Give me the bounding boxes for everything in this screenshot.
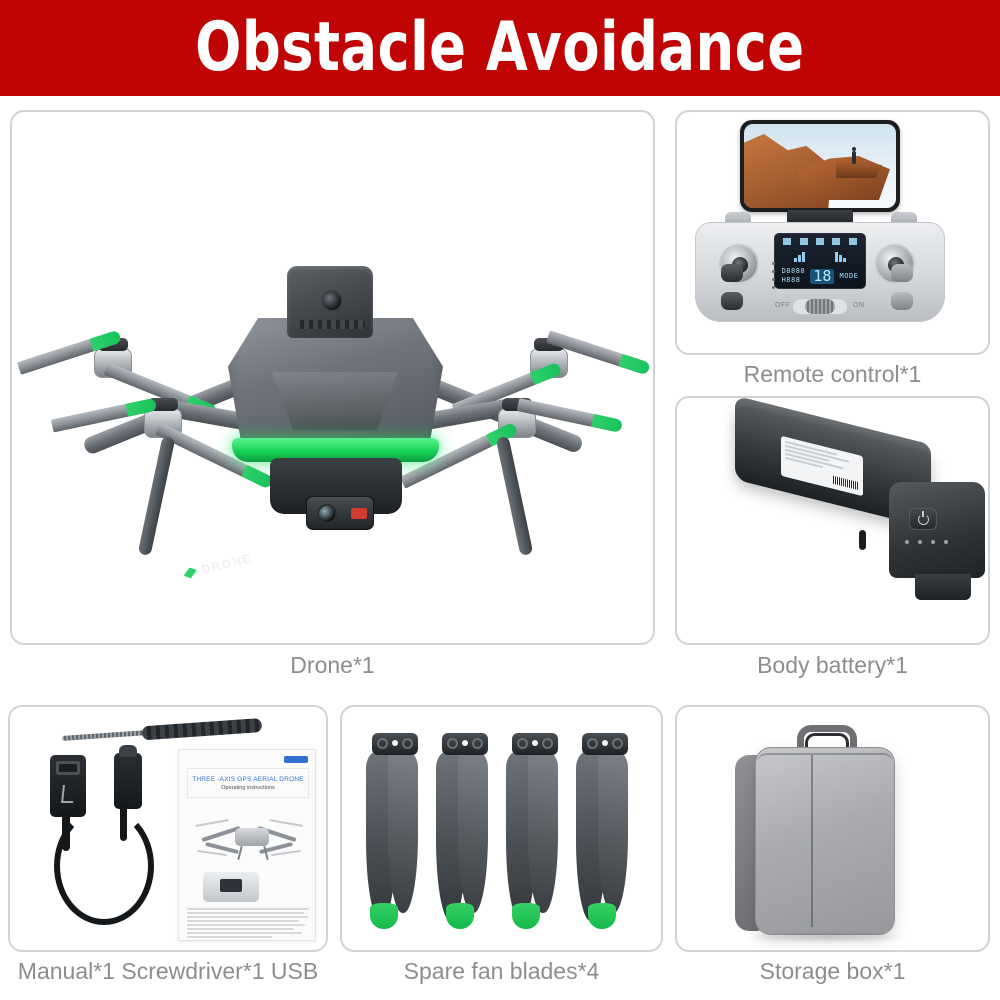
battery-charge-port	[859, 530, 866, 550]
drone-assembly: DRONE	[32, 222, 632, 552]
product-card-drone[interactable]: DRONE	[10, 110, 655, 645]
instruction-manual: THREE -AXIS GPS AERIAL DRONE Operating i…	[178, 749, 316, 941]
caption-storage-box: Storage box*1	[675, 958, 990, 985]
usb-c-connector	[114, 753, 142, 809]
battery-connector-foot	[915, 574, 971, 600]
propeller-vane-b	[528, 751, 558, 913]
accessories-illustration: THREE -AXIS GPS AERIAL DRONE Operating i…	[10, 707, 326, 950]
lcd-mode-value: MODE	[840, 273, 859, 280]
drone-landing-leg-left	[138, 436, 176, 556]
usb-a-connector	[50, 755, 86, 817]
battery-level-leds	[905, 540, 948, 544]
switch-label-on: ON	[853, 302, 865, 309]
usb-a-pins	[56, 761, 80, 775]
storage-box-illustration	[677, 707, 988, 950]
bag-seam	[811, 755, 813, 927]
power-switch-knob[interactable]	[805, 299, 835, 314]
power-switch[interactable]	[792, 298, 848, 315]
drone-illustration: DRONE	[12, 112, 653, 643]
caption-accessories: Manual*1 Screwdriver*1 USB	[8, 958, 328, 985]
banner-title: Obstacle Avoidance	[195, 14, 804, 82]
camera-badge	[351, 508, 367, 519]
propeller-vane-b	[388, 751, 418, 913]
mounted-phone	[740, 120, 900, 212]
manual-remote-screen	[220, 879, 242, 892]
battery-barcode	[833, 476, 859, 490]
remote-button-gps[interactable]	[721, 264, 743, 282]
propeller-blade	[434, 733, 494, 929]
drone-camera	[306, 496, 374, 530]
usb-c-tip	[119, 745, 137, 757]
battery-illustration	[677, 398, 988, 643]
propeller-green-tip	[446, 903, 474, 929]
propeller-hub	[512, 733, 558, 755]
caption-spare-blades: Spare fan blades*4	[340, 958, 663, 985]
manual-body-text	[187, 908, 309, 940]
product-card-accessories[interactable]: THREE -AXIS GPS AERIAL DRONE Operating i…	[8, 705, 328, 952]
power-icon	[918, 514, 929, 525]
drone-logo: DRONE	[181, 541, 279, 586]
product-card-storage-box[interactable]	[675, 705, 990, 952]
propeller-blade	[504, 733, 564, 929]
propeller-green-tip	[512, 903, 540, 929]
manual-subtitle: Operating instructions	[221, 785, 275, 791]
propeller-vane-b	[458, 751, 488, 913]
propeller-vane-b	[598, 751, 628, 913]
usb-cable-loop	[54, 807, 154, 925]
remote-dial-gimbal[interactable]	[891, 264, 913, 282]
manual-remote-figure	[203, 872, 259, 902]
sensor-lens-icon	[321, 290, 343, 312]
product-card-spare-blades[interactable]	[340, 705, 663, 952]
caption-drone: Drone*1	[10, 652, 655, 679]
propeller-green-tip	[370, 903, 398, 929]
bag-shadow	[747, 931, 907, 943]
remote-lcd-display: D8888 H888 18 MODE	[774, 233, 866, 289]
remote-dial-zoom[interactable]	[891, 292, 913, 310]
propeller-blade	[574, 733, 634, 929]
blades-illustration	[342, 707, 661, 950]
drone-landing-leg-right	[496, 436, 534, 556]
header-banner: Obstacle Avoidance	[0, 0, 1000, 96]
remote-battery-leds	[772, 262, 775, 289]
lcd-bars-row	[779, 251, 861, 262]
product-card-remote-control[interactable]: D8888 H888 18 MODE OFF ON	[675, 110, 990, 355]
propeller-blade	[364, 733, 424, 929]
usb-logo-icon	[61, 785, 75, 803]
caption-remote-control: Remote control*1	[675, 361, 990, 388]
lcd-signal-left-icon	[794, 251, 805, 262]
phone-screen	[744, 124, 896, 208]
screwdriver-shaft	[62, 730, 154, 741]
bag-zipper	[757, 753, 893, 763]
remote-illustration: D8888 H888 18 MODE OFF ON	[677, 112, 988, 353]
lcd-icon-row	[779, 238, 861, 245]
screwdriver	[62, 718, 262, 746]
lcd-main-value: 18	[810, 269, 834, 284]
product-contents-page: Obstacle Avoidance	[0, 0, 1000, 1000]
remote-button-photo[interactable]	[721, 292, 743, 310]
camera-lens-icon	[317, 504, 337, 524]
propeller-hub	[582, 733, 628, 755]
manual-title-box: THREE -AXIS GPS AERIAL DRONE Operating i…	[187, 768, 309, 798]
lcd-distance-value: D8888	[782, 268, 806, 275]
lcd-signal-right-icon	[835, 251, 846, 262]
screwdriver-handle	[142, 718, 263, 740]
product-card-battery[interactable]	[675, 396, 990, 645]
manual-drone-figure	[195, 806, 303, 868]
switch-label-off: OFF	[775, 302, 791, 309]
hiker-figure	[852, 151, 856, 164]
lcd-height-value: H888	[782, 277, 806, 284]
propeller-hub	[442, 733, 488, 755]
manual-badge	[284, 756, 308, 763]
caption-battery: Body battery*1	[675, 652, 990, 679]
obstacle-avoidance-sensor	[287, 266, 373, 338]
lcd-speed-icon	[800, 238, 808, 245]
logo-mark-icon	[182, 566, 198, 580]
propeller-green-tip	[588, 903, 616, 929]
lcd-gps-icon	[816, 238, 824, 245]
lcd-camera-icon	[832, 238, 840, 245]
lcd-wifi-icon	[849, 238, 857, 245]
propeller-hub	[372, 733, 418, 755]
sensor-vent	[295, 320, 365, 329]
lcd-satellite-icon	[783, 238, 791, 245]
battery-front-face	[889, 482, 985, 578]
logo-text: DRONE	[200, 551, 253, 577]
battery-power-button[interactable]	[909, 508, 937, 530]
lcd-value-row: D8888 H888 18 MODE	[779, 268, 861, 284]
bag-front-panel	[755, 747, 895, 935]
manual-title: THREE -AXIS GPS AERIAL DRONE	[192, 776, 304, 783]
